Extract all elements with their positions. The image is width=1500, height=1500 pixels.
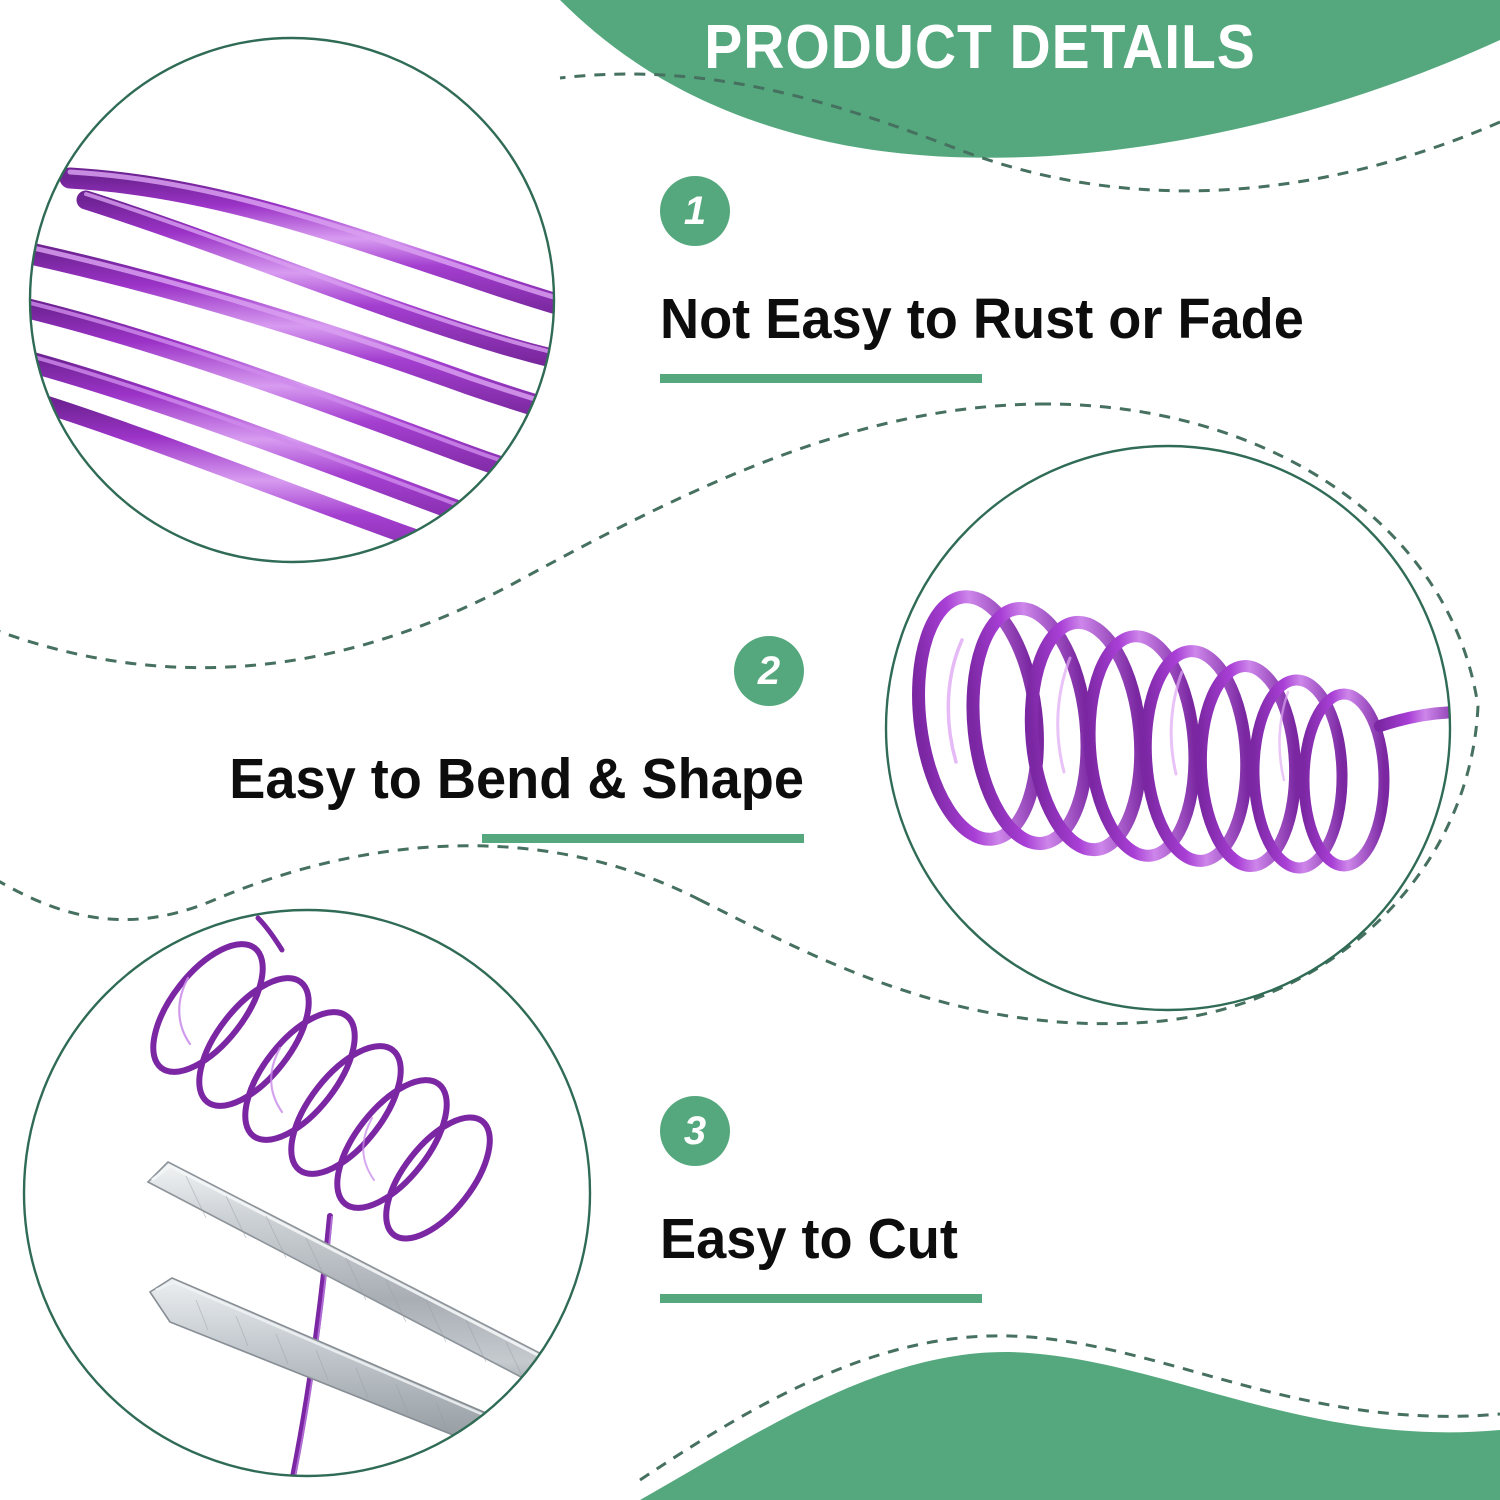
feature-block-2: 2 Easy to Bend & Shape	[256, 636, 804, 843]
feature-block-3: 3 Easy to Cut	[660, 1096, 982, 1303]
product-details-infographic: PRODUCT DETAILS 1 Not Easy to Rust or Fa…	[0, 0, 1500, 1500]
feature-heading-1: Not Easy to Rust or Fade	[660, 290, 1304, 350]
step-badge-2: 2	[734, 636, 804, 706]
feature-underline-3	[660, 1294, 982, 1303]
feature-heading-3: Easy to Cut	[660, 1210, 966, 1270]
photo-circle-wire-strands	[16, 38, 672, 598]
step-badge-1: 1	[660, 176, 730, 246]
step-number-1: 1	[684, 191, 706, 231]
step-number-2: 2	[758, 651, 780, 691]
step-number-3: 3	[684, 1111, 706, 1151]
feature-heading-2: Easy to Bend & Shape	[229, 750, 804, 810]
feature-underline-2	[482, 834, 804, 843]
page-title: PRODUCT DETAILS	[676, 8, 1283, 86]
feature-underline-1	[660, 374, 982, 383]
photo-circle-scissors-cut	[20, 906, 600, 1492]
step-badge-3: 3	[660, 1096, 730, 1166]
photo-circle-coil-spring	[880, 440, 1462, 1020]
feature-block-1: 1 Not Easy to Rust or Fade	[660, 176, 1338, 383]
bottom-wave	[640, 1352, 1500, 1500]
